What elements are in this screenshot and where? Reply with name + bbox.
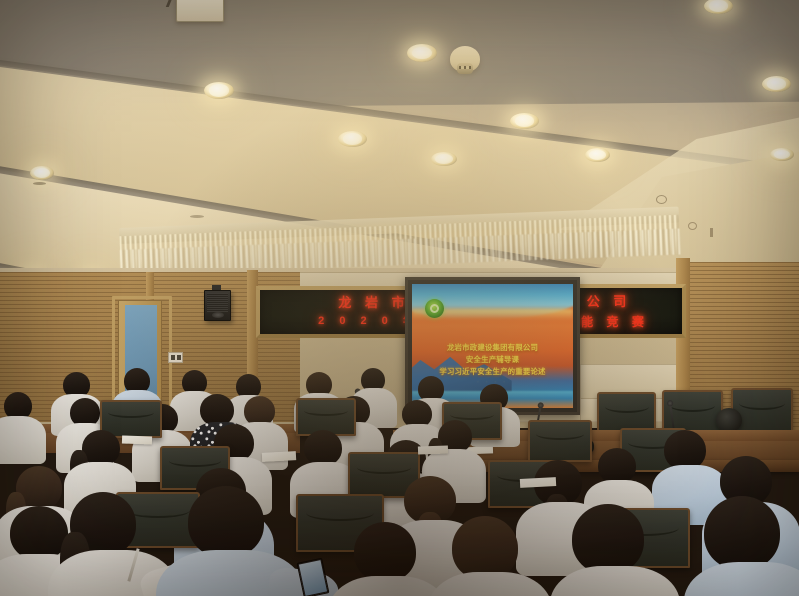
smartphone[interactable] bbox=[297, 558, 330, 596]
ceiling-mark bbox=[710, 228, 713, 237]
downlight-icon bbox=[204, 82, 234, 99]
led-banner-left-line2: 2 0 2 0 年 bbox=[260, 316, 428, 327]
ceiling-mark bbox=[190, 215, 204, 218]
downlight-icon bbox=[407, 44, 437, 62]
document-on-desk bbox=[262, 451, 296, 462]
downlight-icon bbox=[431, 152, 457, 166]
wall-speaker-icon bbox=[204, 290, 231, 321]
downlight-icon bbox=[510, 113, 539, 129]
chair-back bbox=[731, 388, 793, 436]
ceiling-mark bbox=[656, 195, 667, 204]
company-emblem-icon bbox=[425, 299, 444, 318]
downlight-icon bbox=[338, 131, 367, 147]
downlight-icon bbox=[585, 148, 610, 162]
downlight-icon bbox=[762, 76, 791, 92]
downlight-icon bbox=[770, 148, 794, 161]
ceiling-mark bbox=[33, 182, 46, 185]
smoke-detector-icon bbox=[450, 46, 480, 72]
document-on-desk bbox=[418, 445, 448, 454]
decorative-pot bbox=[716, 408, 742, 432]
slide-line-2: 安全生产辅导课 bbox=[412, 354, 573, 366]
chair-back bbox=[528, 420, 592, 462]
slide-line-1: 龙岩市政建设集团有限公司 bbox=[412, 342, 573, 354]
wall-socket-icon[interactable] bbox=[168, 352, 183, 363]
document-on-desk bbox=[122, 435, 152, 444]
downlight-icon bbox=[30, 166, 54, 180]
ceiling-mark bbox=[688, 222, 697, 230]
document-on-desk bbox=[520, 477, 556, 488]
conference-hall-photo: 龙 岩 市 2 0 2 0 年 公 司 能 竞 赛 龙岩市政建设集团有限公司 安… bbox=[0, 0, 799, 596]
slide-title-block: 龙岩市政建设集团有限公司 安全生产辅导课 学习习近平安全生产的重要论述 bbox=[412, 342, 573, 378]
led-banner-left-line1: 龙 岩 市 bbox=[260, 296, 428, 309]
